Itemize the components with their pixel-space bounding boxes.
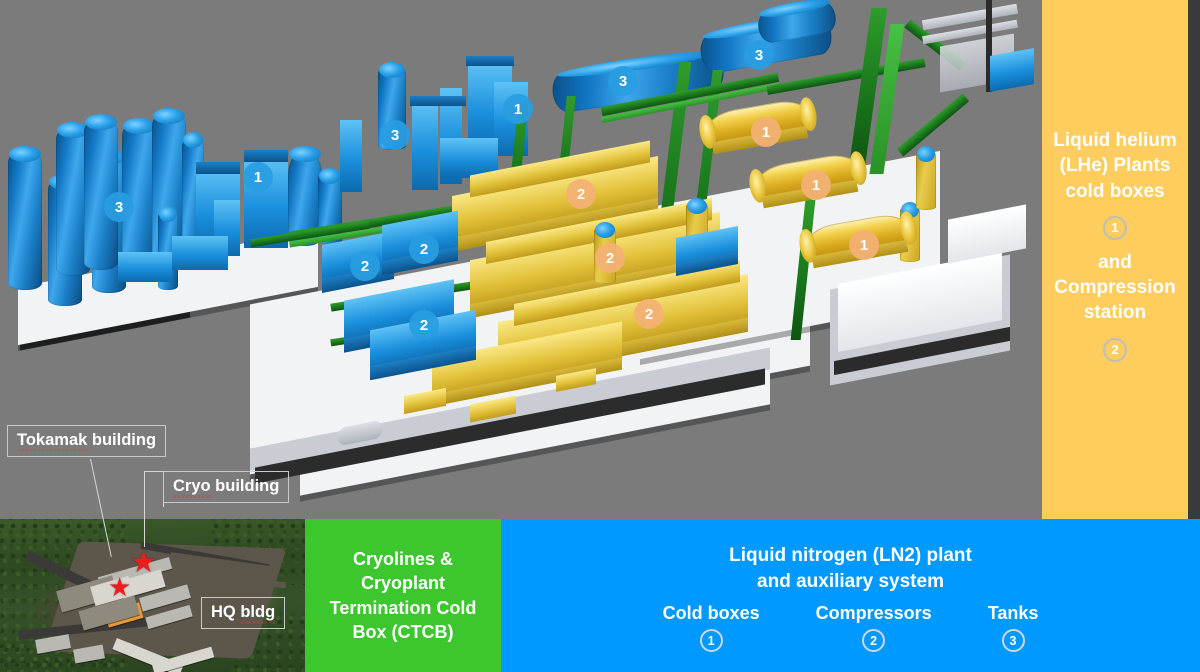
panel-lhe-subtitle-line2: station (1084, 300, 1146, 325)
panel-ctcb-line4: Box (CTCB) (330, 620, 477, 644)
panel-ln2-header-line2: and auxiliary system (501, 569, 1200, 595)
panel-ln2-badge-compressors: 2 (862, 629, 885, 652)
render-badge-1: 1 (849, 230, 879, 260)
panel-lhe-title-line2: (LHe) Plants (1060, 153, 1171, 178)
panel-ln2-col-compressors: Compressors 2 (816, 603, 932, 652)
site-aerial-photo: ★ ★ (0, 519, 305, 672)
render-badge-2: 2 (409, 234, 439, 264)
panel-ln2-col-coldboxes: Cold boxes 1 (663, 603, 760, 652)
panel-lhe-subtitle-line1: Compression (1054, 275, 1175, 300)
gantry-blue-module (990, 48, 1034, 92)
ln2-equipment-block (118, 252, 172, 282)
render-badge-3: 3 (380, 120, 410, 150)
cryoline-pipe-bridge (766, 58, 925, 95)
ln2-coldbox-tower (412, 102, 438, 190)
cryoline-diagonal-brace (897, 94, 969, 157)
render-badge-2: 2 (595, 243, 625, 273)
star-cryo-building: ★ (130, 548, 157, 578)
slide-right-edge (1188, 0, 1200, 519)
render-badge-2: 2 (409, 310, 439, 340)
panel-lhe-plants: Liquid helium (LHe) Plants cold boxes 1 … (1042, 0, 1188, 519)
ln2-coldbox-deck (410, 96, 466, 106)
panel-ln2-badge-coldboxes: 1 (700, 629, 723, 652)
render-badge-3: 3 (104, 192, 134, 222)
panel-ln2-label-compressors: Compressors (816, 603, 932, 624)
render-badge-3: 3 (608, 66, 638, 96)
panel-lhe-conjunction: and (1098, 250, 1132, 275)
callout-cryo-label-squiggle: Cryo (173, 477, 211, 498)
render-badge-1: 1 (243, 162, 273, 192)
render-badge-1: 1 (503, 94, 533, 124)
panel-ctcb-line2: Cryoplant (361, 573, 445, 593)
render-badge-2: 2 (350, 251, 380, 281)
render-badge-2: 2 (566, 179, 596, 209)
leader-cryo-3 (144, 471, 145, 547)
star-tokamak-building: ★ (108, 574, 131, 600)
panel-ctcb-line3: Termination Cold (330, 596, 477, 620)
panel-lhe-title-line1: Liquid helium (1053, 128, 1177, 153)
panel-lhe-badge-compression: 2 (1103, 338, 1127, 362)
callout-cryo-building[interactable]: Cryo building (163, 471, 289, 503)
ln2-tank (8, 150, 42, 290)
slide-canvas: 313133222222111 ★ ★ Tokamak buildin (0, 0, 1200, 672)
panel-ctcb-line1: Cryolines & (353, 549, 453, 569)
callout-tokamak-label-squiggle: Tokamak (17, 431, 87, 452)
ln2-coldbox-roof (244, 150, 288, 162)
callout-hq-label-squiggle: bldg (240, 603, 275, 624)
render-badge-1: 1 (751, 117, 781, 147)
panel-ln2-columns: Cold boxes 1 Compressors 2 Tanks 3 (501, 603, 1200, 652)
callout-cryo-label-rest: building (211, 477, 280, 495)
gold-column (916, 150, 936, 210)
callout-hq-label-prefix: HQ (211, 603, 240, 621)
render-badge-2: 2 (634, 299, 664, 329)
panel-ln2-label-coldboxes: Cold boxes (663, 603, 760, 624)
render-badge-1: 1 (801, 170, 831, 200)
panel-ln2-label-tanks: Tanks (988, 603, 1039, 624)
panel-ln2-col-tanks: Tanks 3 (988, 603, 1039, 652)
panel-ln2-header-line1: Liquid nitrogen (LN2) plant (501, 543, 1200, 569)
ln2-coldbox-roof (196, 162, 240, 174)
callout-tokamak-label-rest: building (87, 431, 156, 449)
auxiliary-building-annex (948, 204, 1026, 263)
panel-lhe-badge-coldboxes: 1 (1103, 216, 1127, 240)
render-badge-3: 3 (744, 40, 774, 70)
ln2-coldbox-roof (466, 56, 514, 66)
panel-ln2-plant: Liquid nitrogen (LN2) plant and auxiliar… (501, 519, 1200, 672)
panel-ctcb: Cryolines & Cryoplant Termination Cold B… (305, 519, 501, 672)
ln2-column (340, 120, 362, 192)
panel-ln2-badge-tanks: 3 (1002, 629, 1025, 652)
panel-lhe-title-line3: cold boxes (1065, 179, 1164, 204)
callout-tokamak-building[interactable]: Tokamak building (7, 425, 166, 457)
callout-hq-building[interactable]: HQ bldg (201, 597, 285, 629)
ln2-equipment-block (172, 236, 228, 270)
leader-cryo-2 (144, 471, 164, 472)
